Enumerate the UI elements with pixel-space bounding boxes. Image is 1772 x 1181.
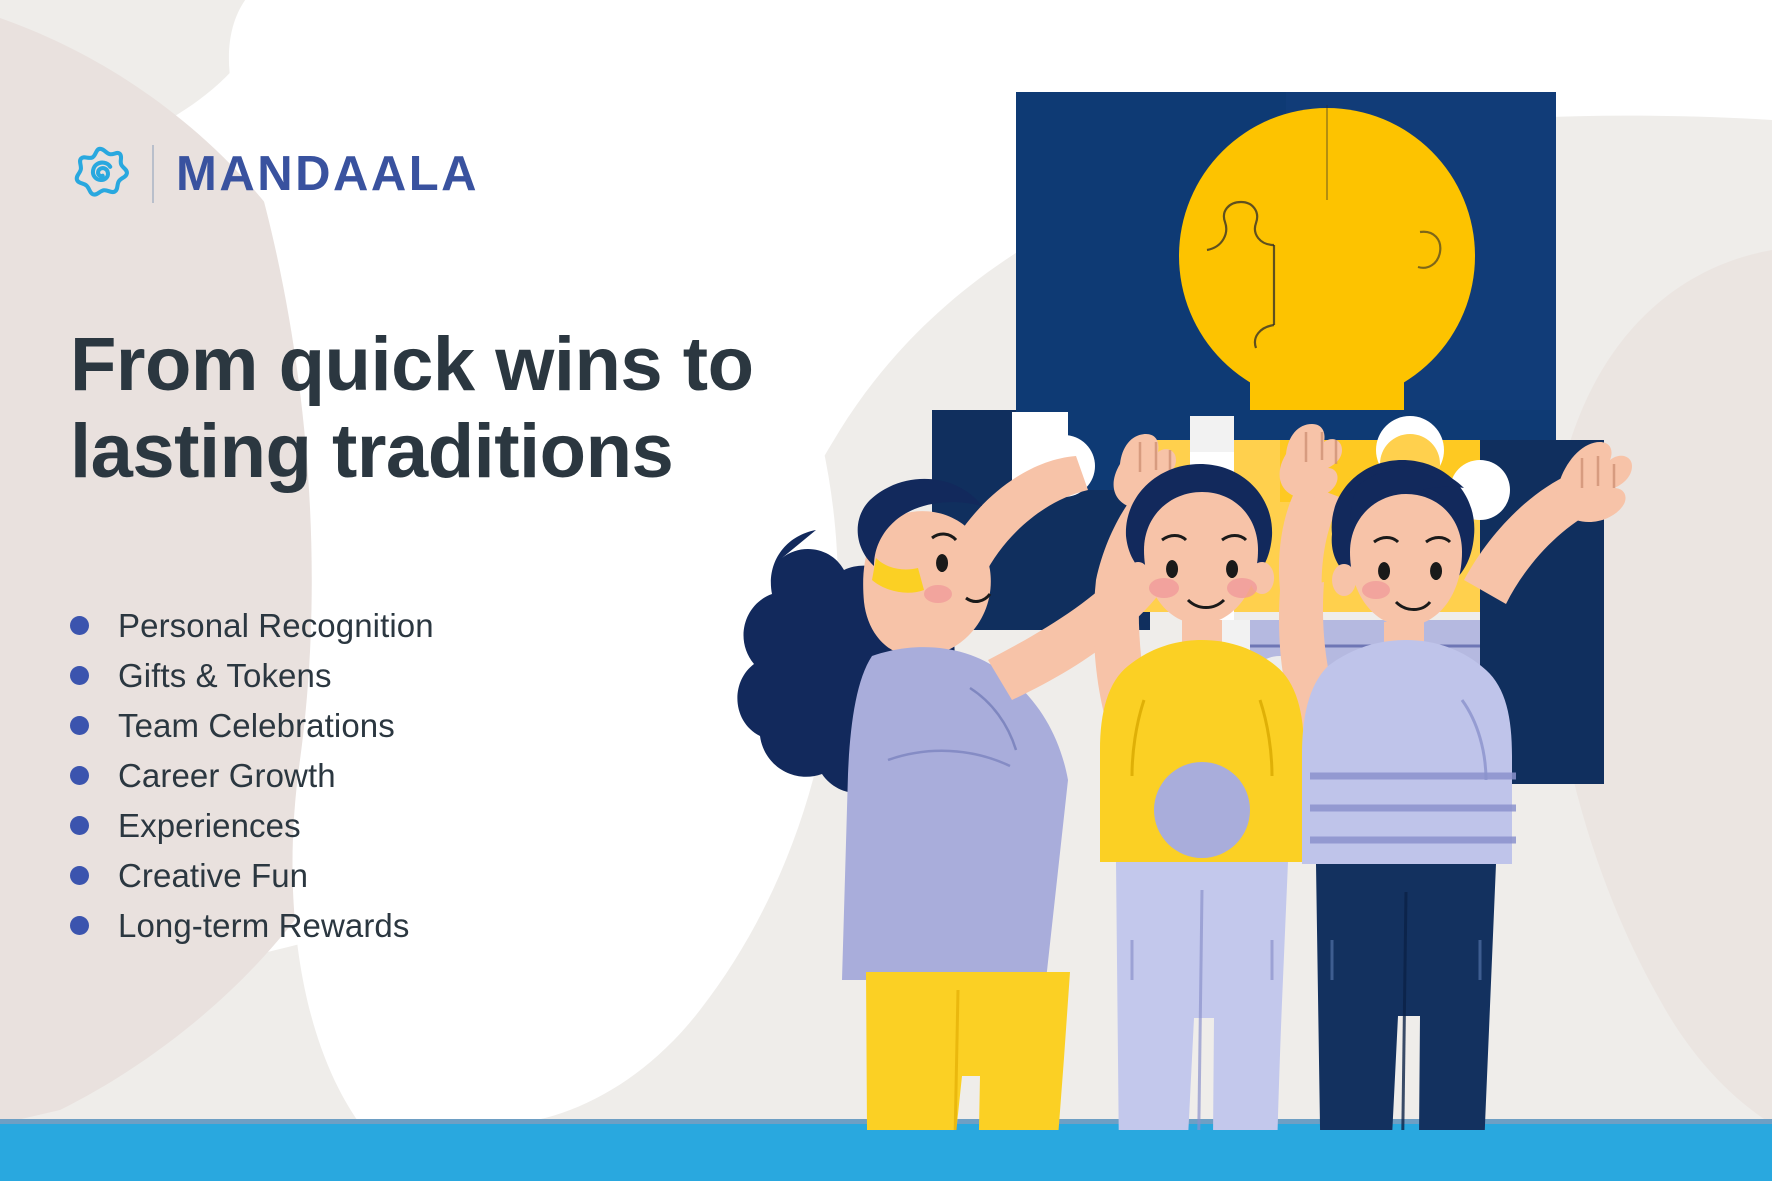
- logo-divider: [152, 145, 154, 203]
- list-item: Gifts & Tokens: [70, 650, 434, 700]
- mandala-spiral-icon: [70, 143, 132, 205]
- list-item: Team Celebrations: [70, 700, 434, 750]
- list-item-label: Personal Recognition: [118, 609, 434, 642]
- bullet-dot-icon: [70, 866, 89, 885]
- bullet-dot-icon: [70, 766, 89, 785]
- bullet-dot-icon: [70, 666, 89, 685]
- brand-logo[interactable]: MANDAALA: [70, 143, 479, 205]
- slide-canvas: MANDAALA From quick wins to lasting trad…: [0, 0, 1772, 1181]
- teamwork-puzzle-illustration: [720, 60, 1772, 1130]
- list-item: Personal Recognition: [70, 600, 434, 650]
- bottom-accent-bar: [0, 1124, 1772, 1181]
- benefits-list: Personal Recognition Gifts & Tokens Team…: [70, 600, 434, 950]
- bullet-dot-icon: [70, 616, 89, 635]
- bullet-dot-icon: [70, 816, 89, 835]
- bullet-dot-icon: [70, 916, 89, 935]
- headline-line-1: From quick wins to: [70, 322, 754, 407]
- list-item-label: Team Celebrations: [118, 709, 395, 742]
- list-item: Creative Fun: [70, 850, 434, 900]
- list-item: Long-term Rewards: [70, 900, 434, 950]
- list-item: Career Growth: [70, 750, 434, 800]
- list-item: Experiences: [70, 800, 434, 850]
- list-item-label: Career Growth: [118, 759, 336, 792]
- list-item-label: Long-term Rewards: [118, 909, 409, 942]
- list-item-label: Experiences: [118, 809, 301, 842]
- bullet-dot-icon: [70, 716, 89, 735]
- brand-wordmark: MANDAALA: [176, 150, 479, 199]
- list-item-label: Gifts & Tokens: [118, 659, 332, 692]
- list-item-label: Creative Fun: [118, 859, 308, 892]
